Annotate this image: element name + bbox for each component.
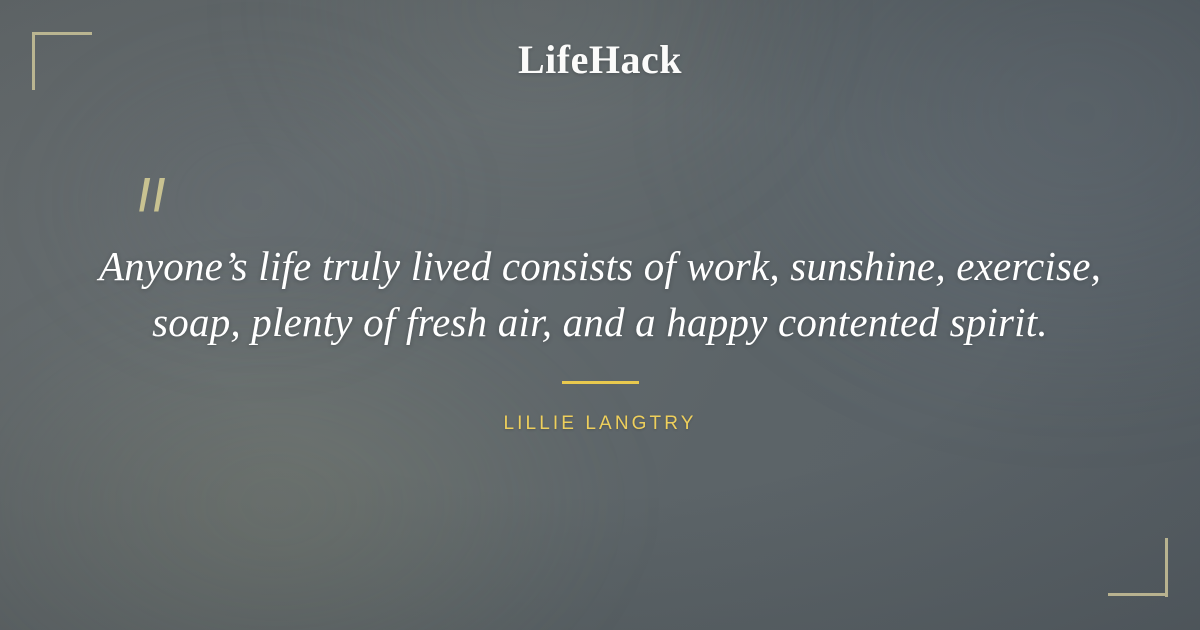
quote-line-2: soap, plenty of fresh air, and a happy c… (60, 294, 1140, 350)
quote-mark-icon (133, 178, 175, 218)
quote-author: LILLIE LANGTRY (0, 414, 1200, 433)
quote-line-1: Anyone’s life truly lived consists of wo… (60, 238, 1140, 294)
quote-text-block: Anyone’s life truly lived consists of wo… (60, 238, 1140, 350)
brand-logo: LifeHack (0, 40, 1200, 80)
corner-bracket-bottom-right-icon (1108, 538, 1168, 596)
gold-divider (562, 381, 639, 384)
quote-card: LifeHack Anyone’s life truly lived consi… (0, 0, 1200, 630)
